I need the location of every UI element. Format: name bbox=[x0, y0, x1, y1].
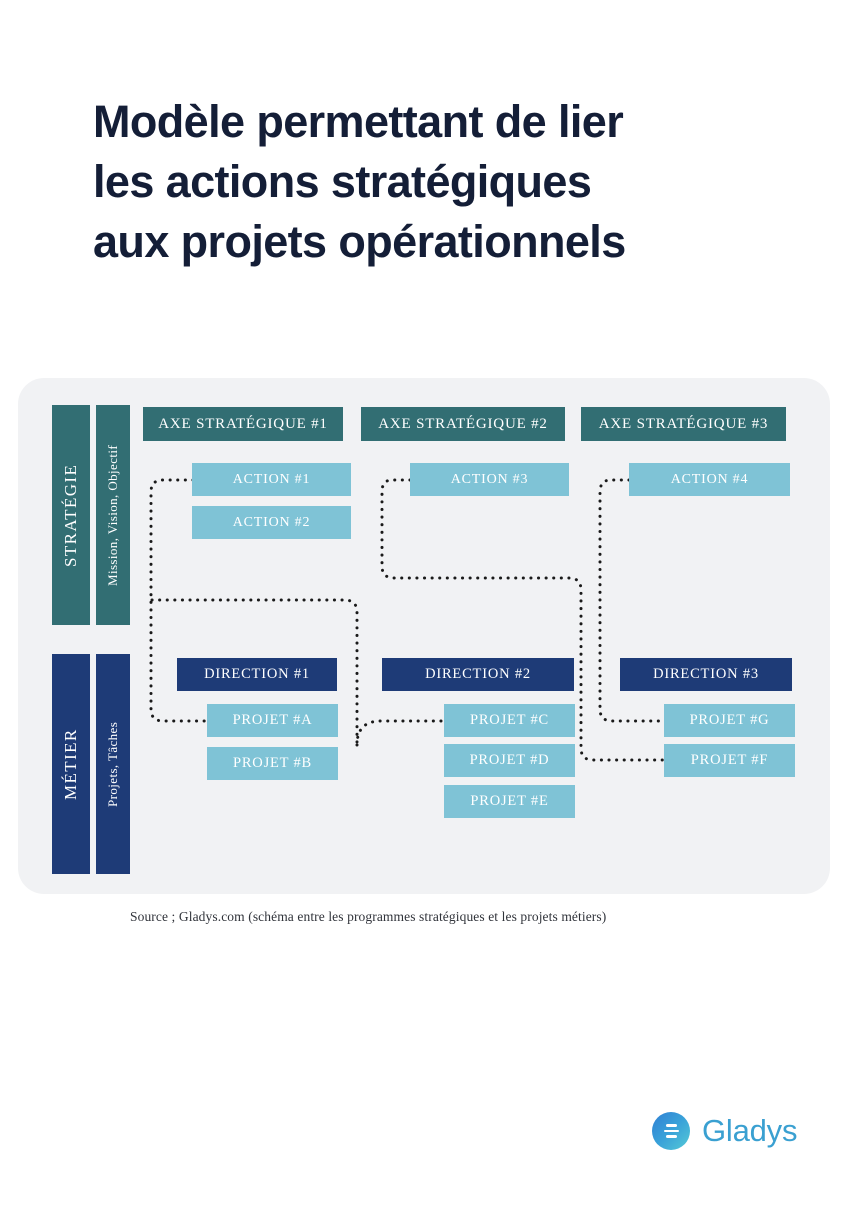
projet-node-g[interactable]: PROJET #G bbox=[664, 704, 795, 737]
projet-node-b[interactable]: PROJET #B bbox=[207, 747, 338, 780]
projet-node-f[interactable]: PROJET #F bbox=[664, 744, 795, 777]
band-metier-title: MÉTIER bbox=[52, 654, 90, 874]
direction-node-1[interactable]: DIRECTION #1 bbox=[177, 658, 337, 691]
direction-node-3[interactable]: DIRECTION #3 bbox=[620, 658, 792, 691]
axis-node-2[interactable]: AXE STRATÉGIQUE #2 bbox=[361, 407, 565, 441]
source-caption: Source ; Gladys.com (schéma entre les pr… bbox=[130, 909, 606, 925]
action-node-3[interactable]: ACTION #3 bbox=[410, 463, 569, 496]
action-node-4[interactable]: ACTION #4 bbox=[629, 463, 790, 496]
band-strategie-title: STRATÉGIE bbox=[52, 405, 90, 625]
projet-node-e[interactable]: PROJET #E bbox=[444, 785, 575, 818]
axis-node-1[interactable]: AXE STRATÉGIQUE #1 bbox=[143, 407, 343, 441]
page-title: Modèle permettant de lier les actions st… bbox=[93, 92, 773, 272]
logo-wordmark: Gladys bbox=[702, 1113, 797, 1149]
action-node-2[interactable]: ACTION #2 bbox=[192, 506, 351, 539]
footer-logo: Gladys bbox=[652, 1112, 797, 1150]
diagram-panel bbox=[18, 378, 830, 894]
projet-node-c[interactable]: PROJET #C bbox=[444, 704, 575, 737]
projet-node-d[interactable]: PROJET #D bbox=[444, 744, 575, 777]
direction-node-2[interactable]: DIRECTION #2 bbox=[382, 658, 574, 691]
axis-node-3[interactable]: AXE STRATÉGIQUE #3 bbox=[581, 407, 786, 441]
gladys-logo-icon bbox=[652, 1112, 690, 1150]
band-strategie-subtitle: Mission, Vision, Objectif bbox=[96, 405, 130, 625]
action-node-1[interactable]: ACTION #1 bbox=[192, 463, 351, 496]
band-metier-subtitle: Projets, Tâches bbox=[96, 654, 130, 874]
projet-node-a[interactable]: PROJET #A bbox=[207, 704, 338, 737]
